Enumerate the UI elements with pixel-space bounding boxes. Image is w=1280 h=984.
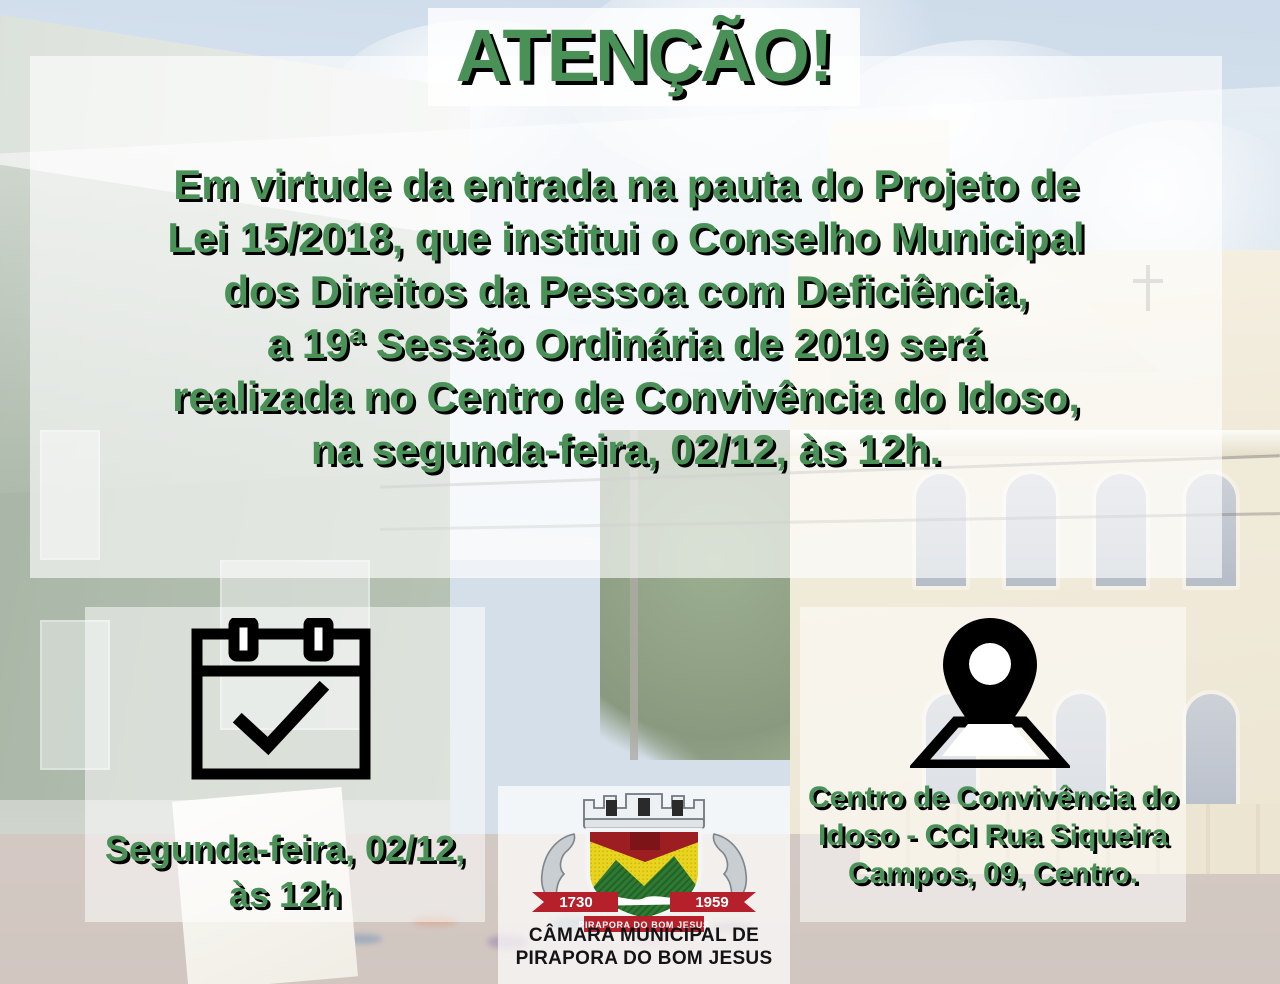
- ribbon-left: 1730: [532, 892, 618, 912]
- ribbon-right: 1959: [670, 892, 756, 912]
- mural-crown: [584, 794, 704, 828]
- location-line: 09, Centro.: [983, 857, 1138, 890]
- body-line: na segunda-feira, 02/12, às 12h.: [40, 423, 1212, 476]
- body-line: dos Direitos da Pessoa com Deficiência,: [40, 264, 1212, 317]
- body-line: Em virtude da entrada na pauta do Projet…: [40, 158, 1212, 211]
- logo-caption: CÂMARA MUNICIPAL DE PIRAPORA DO BOM JESU…: [498, 924, 790, 970]
- date-caption: Segunda-feira, 02/12, às 12h: [85, 826, 485, 918]
- calendar-check-icon: [190, 618, 372, 783]
- body-line: realizada no Centro de Convivência do Id…: [40, 370, 1212, 423]
- location-line: Centro de Convivência: [808, 781, 1133, 814]
- poster-canvas: ATENÇÃO! Em virtude da entrada na pauta …: [0, 0, 1280, 984]
- page-title: ATENÇÃO!: [428, 6, 860, 106]
- map-pin-icon: [910, 616, 1070, 768]
- founding-year-right: 1959: [695, 894, 728, 911]
- logo-caption-line: CÂMARA MUNICIPAL DE: [498, 924, 790, 947]
- logo-caption-line: PIRAPORA DO BOM JESUS: [498, 947, 790, 970]
- body-line: Lei 15/2018, que institui o Conselho Mun…: [40, 211, 1212, 264]
- body-line: a 19ª Sessão Ordinária de 2019 será: [40, 317, 1212, 370]
- date-line: Segunda-feira,: [105, 828, 355, 869]
- location-caption: Centro de Convivência do Idoso - CCI Rua…: [796, 779, 1190, 893]
- founding-year-left: 1730: [559, 894, 592, 911]
- announcement-body: Em virtude da entrada na pauta do Projet…: [40, 158, 1212, 476]
